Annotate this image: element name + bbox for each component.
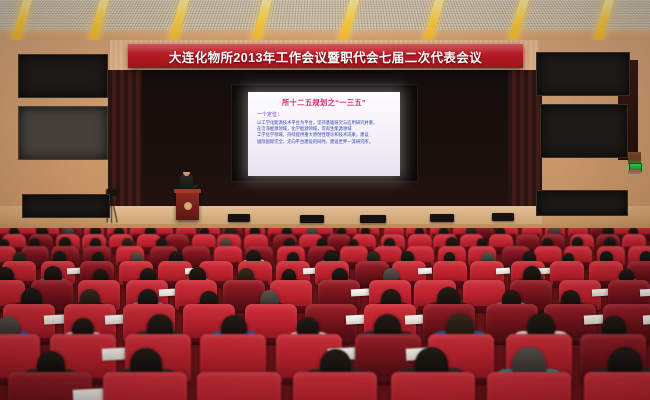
stage-monitor-speaker: [228, 214, 250, 222]
auditorium-seat: [103, 372, 187, 400]
speaker-hair: [183, 168, 190, 172]
podium: [176, 191, 199, 220]
delegate-document: [44, 315, 66, 325]
delegate-document: [643, 315, 650, 325]
wall-acoustic-panel: [22, 194, 110, 218]
wall-acoustic-panel: [540, 104, 628, 158]
delegate-document: [418, 268, 433, 274]
ceiling: [0, 0, 650, 42]
slide-title: 所十二五规划之“一三五”: [255, 98, 393, 108]
stage-monitor-speaker: [492, 213, 514, 221]
stage-monitor-speaker: [430, 214, 454, 222]
stage-apron: [108, 206, 542, 224]
stage-monitor-speaker: [300, 215, 324, 223]
tripod-leg: [111, 196, 112, 223]
wall-acoustic-panel: [536, 52, 630, 96]
conference-banner-text: 大连化物所2013年工作会议暨职代会七届二次代表会议: [169, 47, 482, 66]
auditorium-seat: [293, 372, 377, 400]
conference-banner: 大连化物所2013年工作会议暨职代会七届二次代表会议: [128, 44, 523, 68]
delegate-document: [640, 289, 650, 297]
stage-monitor-speaker: [360, 215, 386, 223]
wall-acoustic-panel: [18, 106, 108, 160]
podium-top: [174, 189, 201, 193]
exit-sign-base: [628, 170, 641, 174]
audience-seating: [0, 228, 650, 400]
wall-acoustic-panel: [536, 190, 628, 216]
auditorium-seat: [487, 372, 571, 400]
slide-subtitle: 一个定位：: [257, 111, 393, 118]
projection-screen: 所十二五规划之“一三五” 一个定位： 以工学化能源技术平台为平台，坚持基础研究与…: [248, 92, 400, 176]
delegate-document: [351, 289, 369, 297]
slide-body-line: 国际国际完全，走向平台建设的同时，建设世界一流研究所。: [257, 139, 393, 145]
auditorium-seat: [584, 372, 650, 400]
projection-screen-frame: 所十二五规划之“一三五” 一个定位： 以工学化能源技术平台为平台，坚持基础研究与…: [231, 84, 418, 182]
auditorium-seat: [391, 372, 475, 400]
wall-acoustic-panel: [18, 54, 108, 98]
podium-emblem: [184, 202, 192, 210]
delegate-document: [496, 268, 511, 274]
auditorium-seat: [197, 372, 281, 400]
